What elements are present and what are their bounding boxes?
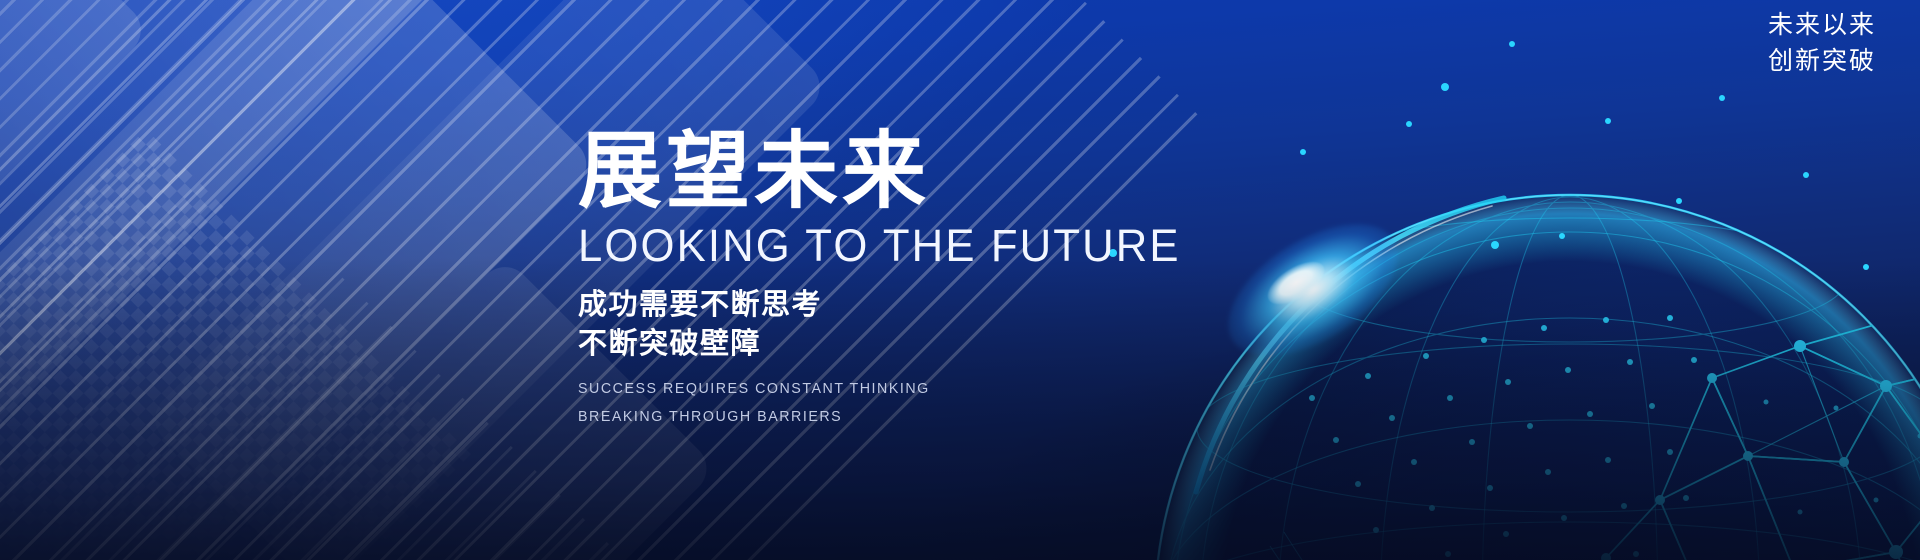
corner-slogan-line1: 未来以来 — [1768, 8, 1876, 44]
subtitle-en-line1: SUCCESS REQUIRES CONSTANT THINKING — [578, 375, 1168, 403]
hero-banner: 展望未来 LOOKING TO THE FUTURE 成功需要不断思考 不断突破… — [0, 0, 1920, 560]
subtitle-en-line2: BREAKING THROUGH BARRIERS — [578, 403, 1168, 431]
headline-block: 展望未来 LOOKING TO THE FUTURE 成功需要不断思考 不断突破… — [578, 128, 1199, 431]
corner-slogan-line2: 创新突破 — [1768, 44, 1876, 80]
subtitle-cn-line1: 成功需要不断思考 — [578, 286, 1199, 325]
page-title: 展望未来 — [578, 128, 1199, 215]
corner-slogan: 未来以来 创新突破 — [1768, 8, 1876, 79]
page-title-english: LOOKING TO THE FUTURE — [578, 221, 1181, 271]
subtitle-cn-line2: 不断突破壁障 — [578, 325, 1199, 364]
